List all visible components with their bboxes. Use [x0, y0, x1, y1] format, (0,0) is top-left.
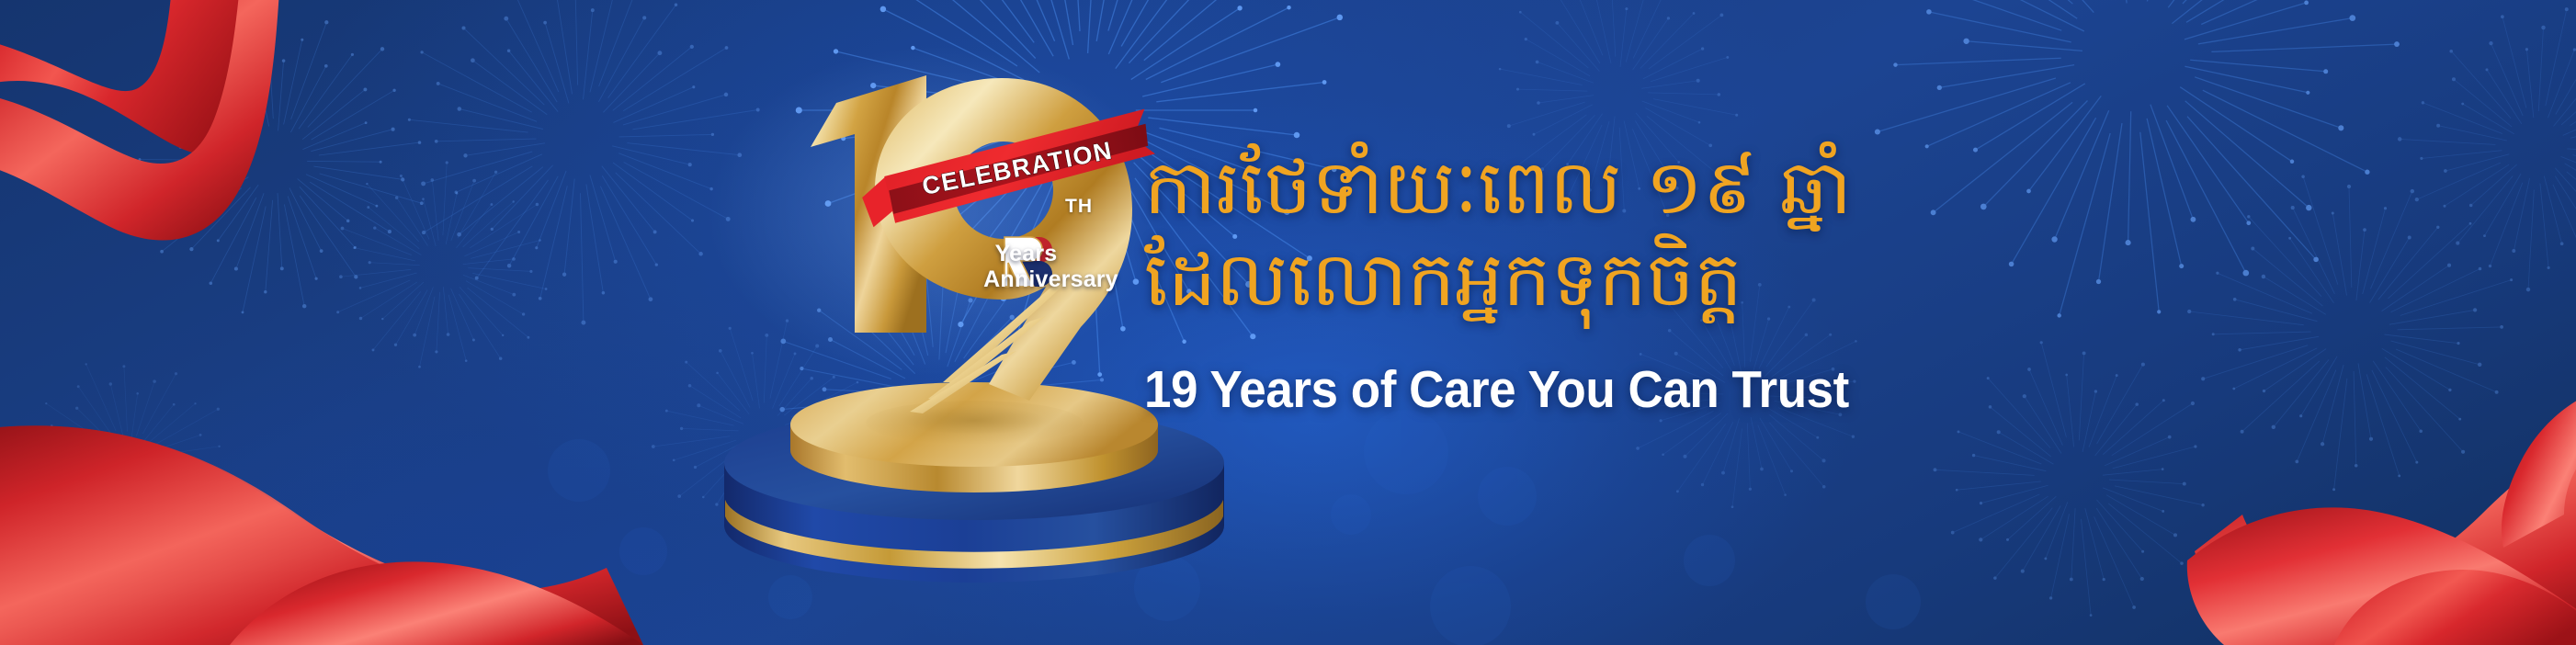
- years-line-2: Anniversary: [943, 266, 1159, 292]
- english-tagline: 19 Years of Care You Can Trust: [1144, 359, 2255, 420]
- anniversary-banner: CELEBRATION TH Years Anniversary ការថែទា…: [0, 0, 2576, 645]
- ribbon-bottom-left: [0, 425, 643, 645]
- khmer-headline-line-2: ដែលលោកអ្នកទុកចិត្ត: [1144, 234, 2339, 326]
- years-anniversary-label: Years Anniversary: [943, 241, 1159, 292]
- ribbon-bottom-right: [2187, 386, 2576, 645]
- years-line-1: Years: [943, 241, 1159, 266]
- ribbon-top-left: [0, 0, 280, 241]
- khmer-headline-line-1: ការថែទាំយៈពេល ១៩ ឆ្នាំ: [1144, 142, 2339, 234]
- ordinal-suffix: TH: [1065, 196, 1093, 218]
- headline-block: ការថែទាំយៈពេល ១៩ ឆ្នាំ ដែលលោកអ្នកទុកចិត្…: [1144, 142, 2339, 420]
